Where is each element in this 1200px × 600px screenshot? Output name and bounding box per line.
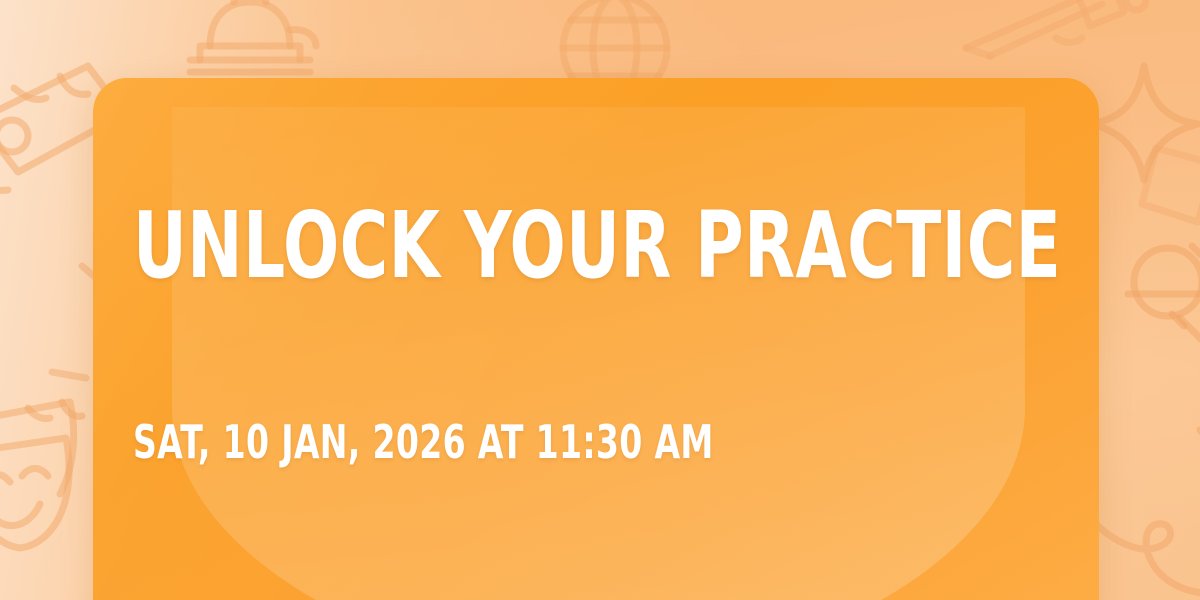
event-title: Unlock Your Practice <box>133 204 1061 289</box>
event-card: Unlock Your Practice Sat, 10 Jan, 2026 a… <box>93 78 1099 600</box>
event-banner: Unlock Your Practice Sat, 10 Jan, 2026 a… <box>0 0 1200 600</box>
card-text-block: Unlock Your Practice Sat, 10 Jan, 2026 a… <box>133 78 1033 600</box>
event-datetime: Sat, 10 Jan, 2026 at 11:30 AM <box>133 419 714 465</box>
